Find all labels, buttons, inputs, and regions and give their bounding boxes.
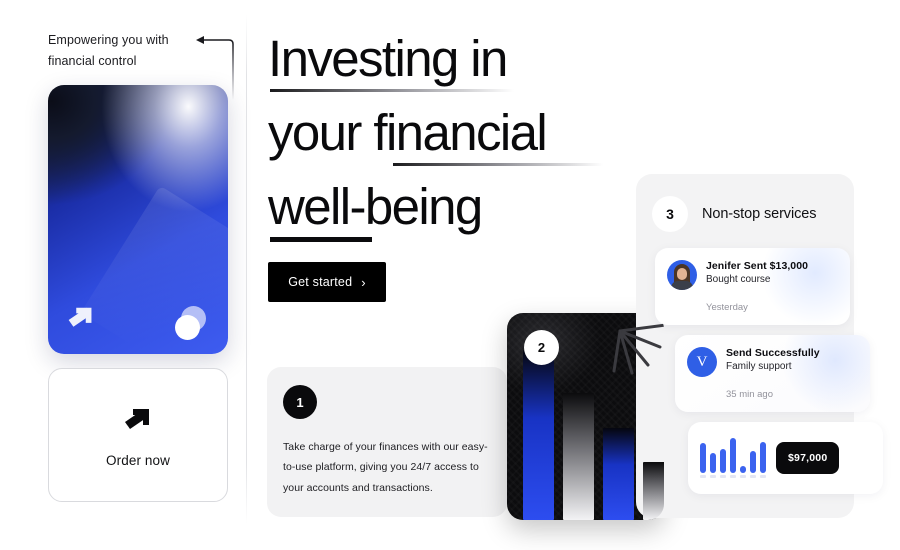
mini-bar-2 <box>710 453 716 473</box>
spending-chart-card: $97,000 <box>688 422 883 494</box>
panel-header: 3 Non-stop services <box>652 196 816 232</box>
notification-item[interactable]: V Send Successfully Family support 35 mi… <box>675 335 870 412</box>
step-one-card: 1 Take charge of your finances with our … <box>267 367 507 517</box>
notification-title: Send Successfully <box>726 347 820 359</box>
mini-bar-6 <box>750 451 756 473</box>
brand-arrow-logo-icon <box>118 403 158 443</box>
landing-page-canvas: Empowering you with financial control <box>0 0 900 550</box>
step-one-body: Take charge of your finances with our ea… <box>283 437 491 498</box>
page-title: Investing in your financial well-being <box>268 22 688 244</box>
notification-subtitle: Family support <box>726 361 820 372</box>
card-chip-circles <box>173 306 213 340</box>
gradient-credit-card <box>48 85 228 354</box>
notification-time: Yesterday <box>706 302 748 313</box>
notification-title: Jenifer Sent $13,000 <box>706 260 808 272</box>
get-started-label: Get started <box>288 275 352 289</box>
mini-bar-1 <box>700 443 706 473</box>
headline-rule-3 <box>270 237 372 242</box>
mini-bar-4 <box>730 438 736 473</box>
dark-bar-2 <box>563 393 594 520</box>
notification-time: 35 min ago <box>726 389 773 400</box>
dark-card-bar-chart <box>523 340 664 520</box>
order-now-card[interactable]: Order now <box>48 368 228 502</box>
headline-line-3: well-being <box>268 170 688 244</box>
headline-rule-2 <box>393 163 603 166</box>
notification-item[interactable]: Jenifer Sent $13,000 Bought course Yeste… <box>655 248 850 325</box>
non-stop-services-panel: 3 Non-stop services Jenifer Sent $13,000… <box>636 174 854 518</box>
notification-subtitle: Bought course <box>706 274 808 285</box>
eyebrow-line-1: Empowering you with <box>48 30 208 51</box>
dark-bar-3 <box>603 428 634 520</box>
notification-row: Jenifer Sent $13,000 Bought course <box>667 260 808 290</box>
mini-bar-chart <box>700 438 766 478</box>
order-now-label: Order now <box>106 453 170 468</box>
step-two-badge: 2 <box>524 330 559 365</box>
services-badge: 3 <box>652 196 688 232</box>
mini-bar-3 <box>720 449 726 473</box>
chevron-right-icon: › <box>361 276 366 289</box>
step-one-badge: 1 <box>283 385 317 419</box>
headline-rule-1 <box>270 89 514 92</box>
eyebrow-line-2: financial control <box>48 51 208 72</box>
step-two-card: 2 <box>507 313 664 520</box>
get-started-button[interactable]: Get started › <box>268 262 386 302</box>
headline-line-1: Investing in <box>268 22 688 96</box>
avatar: V <box>687 347 717 377</box>
vertical-divider <box>246 14 247 524</box>
mini-bar-7 <box>760 442 766 473</box>
services-title: Non-stop services <box>702 206 816 222</box>
dark-bar-4 <box>643 462 664 520</box>
dark-bar-1 <box>523 350 554 520</box>
notification-row: V Send Successfully Family support <box>687 347 820 377</box>
avatar <box>667 260 697 290</box>
brand-arrow-logo-icon <box>62 302 100 340</box>
mini-bar-5 <box>740 466 746 473</box>
eyebrow-text: Empowering you with financial control <box>48 30 208 71</box>
amount-badge[interactable]: $97,000 <box>776 442 839 474</box>
headline-line-2: your financial <box>268 96 688 170</box>
